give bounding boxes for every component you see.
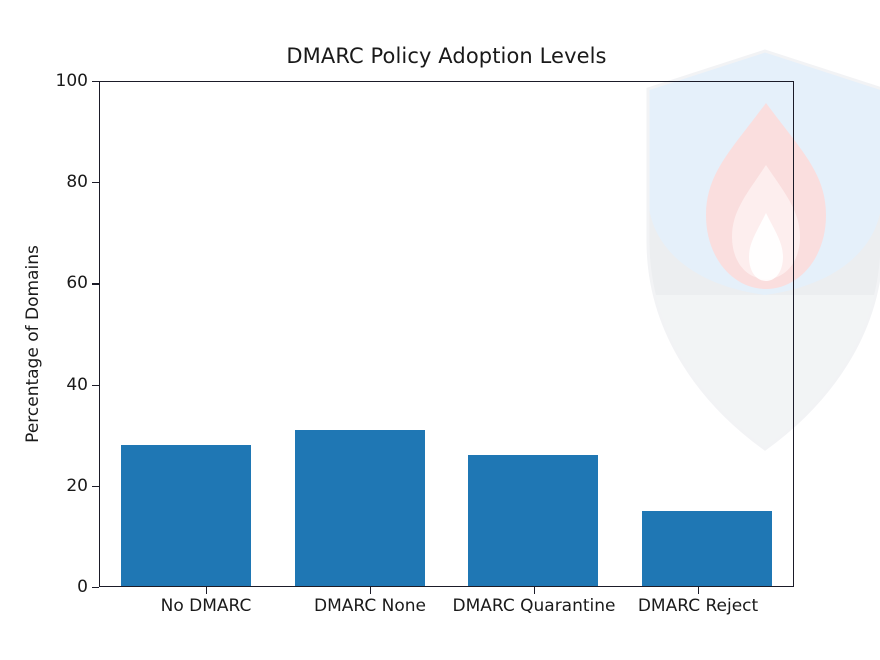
x-tick-mark (698, 587, 699, 594)
y-tick-mark (92, 486, 99, 487)
y-tick-mark (92, 385, 99, 386)
x-tick-label-dmarc-none: DMARC None (314, 596, 426, 616)
y-tick-label-100: 100 (8, 71, 88, 91)
y-tick-label-40: 40 (8, 375, 88, 395)
y-tick-label-0: 0 (8, 577, 88, 597)
y-tick-mark (92, 81, 99, 82)
plot-area-frame (99, 81, 794, 587)
y-tick-mark (92, 182, 99, 183)
x-tick-mark (370, 587, 371, 594)
x-tick-mark (534, 587, 535, 594)
y-tick-label-80: 80 (8, 172, 88, 192)
y-tick-label-20: 20 (8, 476, 88, 496)
x-tick-label-dmarc-quarantine: DMARC Quarantine (452, 596, 615, 616)
x-tick-mark (206, 587, 207, 594)
chart-title: DMARC Policy Adoption Levels (99, 44, 794, 68)
y-tick-mark (92, 283, 99, 284)
y-tick-label-60: 60 (8, 273, 88, 293)
chart-figure: DMARC Policy Adoption Levels 0 20 40 60 … (0, 0, 880, 660)
x-tick-label-dmarc-reject: DMARC Reject (638, 596, 758, 616)
y-tick-mark (92, 587, 99, 588)
y-axis-label: Percentage of Domains (23, 194, 43, 494)
x-tick-label-no-dmarc: No DMARC (161, 596, 252, 616)
